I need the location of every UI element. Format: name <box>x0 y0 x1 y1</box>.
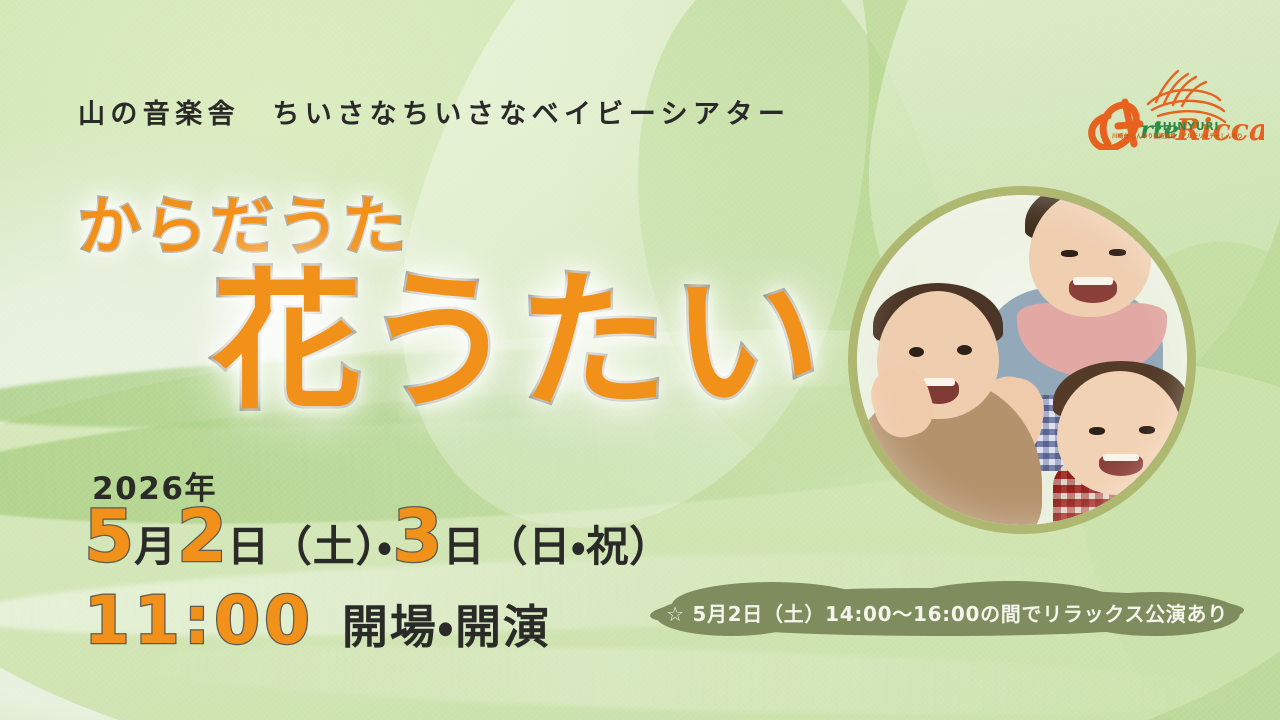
baby-left-teeth <box>923 378 955 386</box>
relax-performance-banner: ☆ 5月2日（土）14:00〜16:00の間でリラックス公演あり <box>650 588 1244 636</box>
time-value: 11:00 <box>84 588 314 654</box>
date-day2-label: 日（日・祝） <box>443 526 672 568</box>
babies-photo-frame <box>848 186 1196 534</box>
baby-top-eye-right <box>1109 249 1126 256</box>
baby-left-eye-left <box>909 347 924 357</box>
date-month-kanji: 月 <box>134 526 177 568</box>
series-kicker: 山の音楽舎 ちいさなちいさなベイビーシアター <box>78 92 790 131</box>
event-date: 5 月 2 日（土）・ 3 日（日・祝） <box>84 500 672 572</box>
baby-bottom-head <box>1057 371 1183 495</box>
date-month-number: 5 <box>84 500 134 572</box>
poster-root: 山の音楽舎 ちいさなちいさなベイビーシアター rte <box>0 0 1280 720</box>
baby-bottom-eye-left <box>1089 427 1105 435</box>
date-day1-number: 2 <box>177 500 227 572</box>
babies-photo <box>857 195 1187 525</box>
title-subtitle: からだうた <box>78 176 409 267</box>
event-time: 11:00 開場・開演 <box>84 588 551 654</box>
baby-bottom-teeth <box>1103 454 1139 461</box>
baby-bottom-eye-right <box>1139 426 1155 434</box>
baby-top-teeth <box>1073 277 1113 285</box>
time-label: 開場・開演 <box>342 604 551 650</box>
logo-subtitle: 川崎市・しんゆり芸術劇場 アルテリッチャしんゆり <box>1112 132 1243 140</box>
date-day1-label: 日（土）・ <box>227 526 392 568</box>
relax-note-text: ☆ 5月2日（土）14:00〜16:00の間でリラックス公演あり <box>650 588 1244 636</box>
baby-top-eye-left <box>1061 250 1078 257</box>
arte-ricca-logo: rte Ricca SHINYURI 川崎市・しんゆり芸術劇場 アルテリッチャし… <box>1078 58 1264 150</box>
page-title: 花うたい <box>212 268 824 418</box>
baby-left-eye-right <box>957 345 972 355</box>
date-day2-number: 3 <box>393 500 443 572</box>
